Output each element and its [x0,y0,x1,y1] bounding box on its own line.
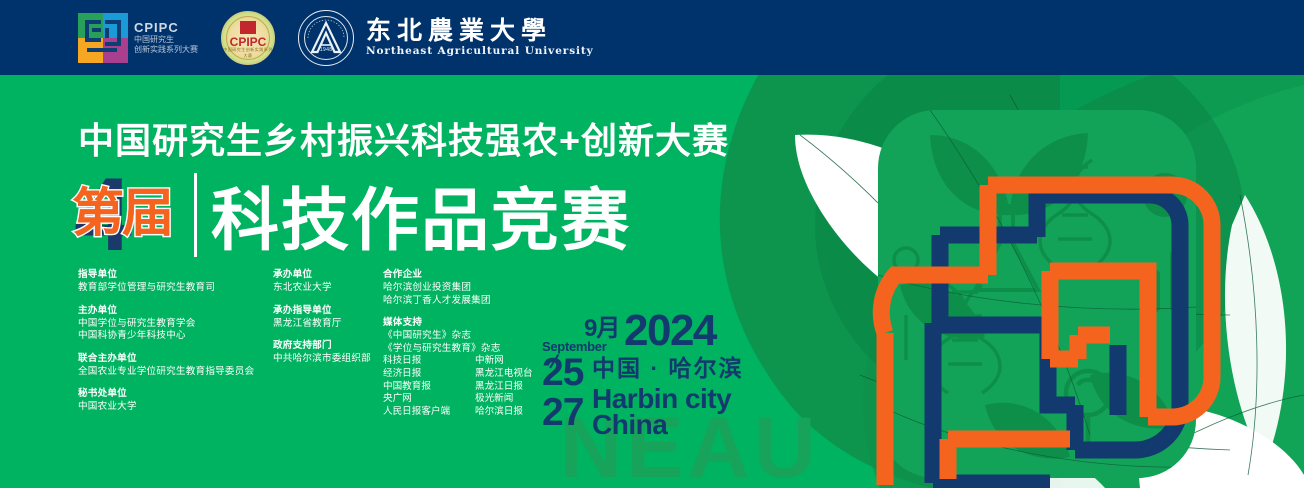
cpipc-round-arc-text: 中国研究生创新实践系列大赛 [222,47,274,59]
credit-line: 中国学位与研究生教育学会 [78,318,273,331]
credit-line: 中共哈尔滨市委组织部 [273,353,383,366]
cpipc-seal-square-icon [240,21,256,34]
neau-logo: 1948 东北農業大學 Northeast Agricultural Unive… [298,10,594,66]
event-country-en: China [592,411,667,439]
competition-title: 科技作品竞赛 [211,179,631,263]
event-year: 2024 [624,309,716,353]
credit-title: 秘书处单位 [78,387,273,400]
cpipc-square-cn-line2: 创新实践系列大赛 [134,45,198,54]
credit-line: 东北农业大学 [273,282,383,295]
event-day-end: 27 [542,393,583,432]
credit-title: 主办单位 [78,304,273,317]
credits-column-b: 承办单位 东北农业大学 承办指导单位 黑龙江省教育厅 政府支持部门 中共哈尔滨市… [273,268,383,418]
credit-title: 联合主办单位 [78,352,273,365]
credit-line: 哈尔滨创业投资集团 [383,282,553,295]
media-outlet: 中国教育报 [383,381,471,394]
poster-body: NEAU 中国研究生乡村振兴科技强农+创新大赛 4 第届 第届 科技作品竞赛 指… [0,75,1304,488]
credits-column-a: 指导单位 教育部学位管理与研究生教育司 主办单位 中国学位与研究生教育学会 中国… [78,268,273,418]
media-outlet: 经济日报 [383,368,471,381]
credit-title: 承办指导单位 [273,304,383,317]
credit-line: 全国农业专业学位研究生教育指导委员会 [78,366,273,379]
credit-group: 承办单位 东北农业大学 [273,268,383,295]
credits-block: 指导单位 教育部学位管理与研究生教育司 主办单位 中国学位与研究生教育学会 中国… [78,268,553,418]
cpipc-square-mark-icon [78,13,128,63]
event-month-cn: 9月 [584,317,619,341]
neau-name-en: Northeast Agricultural University [366,46,594,57]
credit-line: 《中国研究生》杂志 [383,330,553,343]
edition-ordinal: 4 第届 第届 [72,165,192,263]
credit-group: 主办单位 中国学位与研究生教育学会 中国科协青少年科技中心 [78,304,273,343]
credit-line: 黑龙江省教育厅 [273,318,383,331]
event-poster: CPIPC 中国研究生 创新实践系列大赛 CPIPC 中国研究生创新实践系列大赛 [0,0,1304,488]
cpipc-square-cn-line1: 中国研究生 [134,35,198,44]
top-logo-bar: CPIPC 中国研究生 创新实践系列大赛 CPIPC 中国研究生创新实践系列大赛 [0,0,1304,75]
cpipc-round-logo: CPIPC 中国研究生创新实践系列大赛 [210,8,286,68]
title-divider [194,173,197,257]
credit-title: 承办单位 [273,268,383,281]
media-outlet: 央广网 [383,393,471,406]
credit-group: 联合主办单位 全国农业专业学位研究生教育指导委员会 [78,352,273,379]
credit-group: 合作企业 哈尔滨创业投资集团 哈尔滨丁香人才发展集团 [383,268,553,307]
media-outlet-grid: 科技日报 中新网 经济日报 黑龙江电视台 中国教育报 黑龙江日报 央广网 极光新… [383,355,553,418]
cpipc-square-logo: CPIPC 中国研究生 创新实践系列大赛 [78,8,210,68]
cpipc-square-abbrev: CPIPC [134,21,198,34]
event-date-location: 9月 2024 September 25 27 中国 · 哈尔滨 Harbin … [540,315,770,445]
credits-column-c: 合作企业 哈尔滨创业投资集团 哈尔滨丁香人才发展集团 媒体支持 《中国研究生》杂… [383,268,553,418]
svg-text:1948: 1948 [320,47,333,53]
credit-title: 媒体支持 [383,316,553,329]
hero-title-row: 4 第届 第届 科技作品竞赛 [72,165,631,263]
cpipc-round-mark-icon: CPIPC 中国研究生创新实践系列大赛 [221,11,275,65]
media-outlet: 科技日报 [383,355,471,368]
media-support-group: 媒体支持 《中国研究生》杂志 《学位与研究生教育》杂志 科技日报 中新网 经济日… [383,316,553,418]
neau-name-cn: 东北農業大學 [366,18,594,43]
neau-seal-icon: 1948 [298,10,354,66]
media-outlet: 人民日报客户端 [383,406,471,419]
credit-title: 合作企业 [383,268,553,281]
edition-label: 第届 [72,181,192,247]
credit-line: 中国科协青少年科技中心 [78,330,273,343]
credit-line: 哈尔滨丁香人才发展集团 [383,295,553,308]
event-city-cn: 中国 · 哈尔滨 [592,357,743,380]
credit-line: 中国农业大学 [78,401,273,414]
event-headline: 中国研究生乡村振兴科技强农+创新大赛 [78,123,729,159]
credit-line: 《学位与研究生教育》杂志 [383,343,553,356]
credit-group: 政府支持部门 中共哈尔滨市委组织部 [273,339,383,366]
event-day-start: 25 [542,353,583,392]
credit-line: 教育部学位管理与研究生教育司 [78,282,273,295]
credit-group: 秘书处单位 中国农业大学 [78,387,273,414]
credit-group: 指导单位 教育部学位管理与研究生教育司 [78,268,273,295]
credit-title: 政府支持部门 [273,339,383,352]
credit-title: 指导单位 [78,268,273,281]
credit-group: 承办指导单位 黑龙江省教育厅 [273,304,383,331]
